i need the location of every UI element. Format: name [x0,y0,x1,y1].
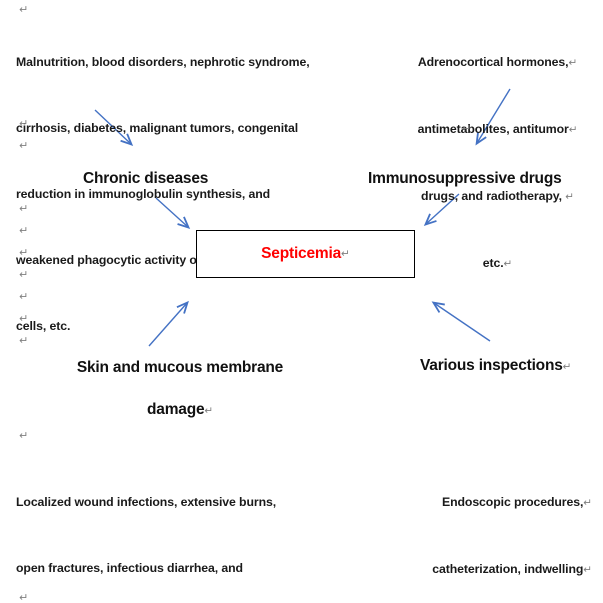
pilcrow-mark: ↵ [569,124,578,136]
document-canvas: Malnutrition, blood disorders, nephrotic… [0,0,603,603]
pilcrow-mark: ↵ [19,118,28,129]
center-node-box: Septicemia↵ [196,230,415,278]
paragraph-line-text: catheterization, indwelling [432,562,583,576]
node-various-inspections: Various inspections↵ [420,347,571,386]
pilcrow-mark: ↵ [341,248,350,260]
pilcrow-mark: ↵ [19,291,28,302]
paragraph-line: cells, etc. [16,315,356,337]
node-chronic-diseases: Chronic diseases [83,160,208,198]
paragraph-line: etc.↵ [400,252,595,275]
paragraph-line: Endoscopic procedures,↵ [330,491,592,514]
node-skin-damage: Skin and mucous membrane damage↵ [40,347,320,432]
center-node-label: Septicemia [261,245,341,263]
paragraph-line: Malnutrition, blood disorders, nephrotic… [16,51,356,73]
pilcrow-mark: ↵ [19,313,28,324]
paragraph-line-text: Adrenocortical hormones, [418,55,569,69]
paragraph-line: catheterization, indwelling↵ [330,558,592,581]
pilcrow-mark: ↵ [19,140,28,151]
node-label-text: Various inspections [420,357,563,374]
pilcrow-mark: ↵ [19,4,28,15]
node-immunosuppressive-drugs: Immunosuppressive drugs [368,160,562,198]
pilcrow-mark: ↵ [504,258,513,270]
pilcrow-mark: ↵ [204,405,213,417]
pilcrow-mark: ↵ [19,247,28,258]
pilcrow-mark: ↵ [19,203,28,214]
pilcrow-mark: ↵ [583,564,592,576]
pilcrow-mark: ↵ [19,335,28,346]
paragraph-line: cirrhosis, diabetes, malignant tumors, c… [16,117,356,139]
node-label-text: Immunosuppressive drugs [368,170,562,187]
paragraph-line: Adrenocortical hormones,↵ [400,51,595,74]
pilcrow-mark: ↵ [19,269,28,280]
pilcrow-mark: ↵ [568,57,577,69]
paragraph-line: Localized wound infections, extensive bu… [16,491,336,513]
paragraph-line-text: Endoscopic procedures, [442,495,583,509]
paragraph-bottom-right: Endoscopic procedures,↵ catheterization,… [330,447,592,603]
pilcrow-mark: ↵ [19,225,28,236]
paragraph-line: antimetabolites, antitumor↵ [400,118,595,141]
node-label-line: Skin and mucous membrane [40,347,320,389]
node-label-text: Chronic diseases [83,170,208,187]
pilcrow-mark: ↵ [19,592,28,603]
paragraph-line: open fractures, infectious diarrhea, and [16,557,336,579]
pilcrow-mark: ↵ [19,430,28,441]
pilcrow-mark: ↵ [563,361,572,373]
pilcrow-mark: ↵ [583,497,592,509]
node-label-line: damage↵ [40,389,320,432]
node-label-text: damage [147,401,204,418]
paragraph-line-text: antimetabolites, antitumor [418,122,569,136]
paragraph-line-text: etc. [483,256,504,270]
pilcrow-mark: ↵ [462,123,471,134]
pilcrow-mark: ↵ [565,191,574,203]
paragraph-bottom-left: Localized wound infections, extensive bu… [16,447,336,603]
